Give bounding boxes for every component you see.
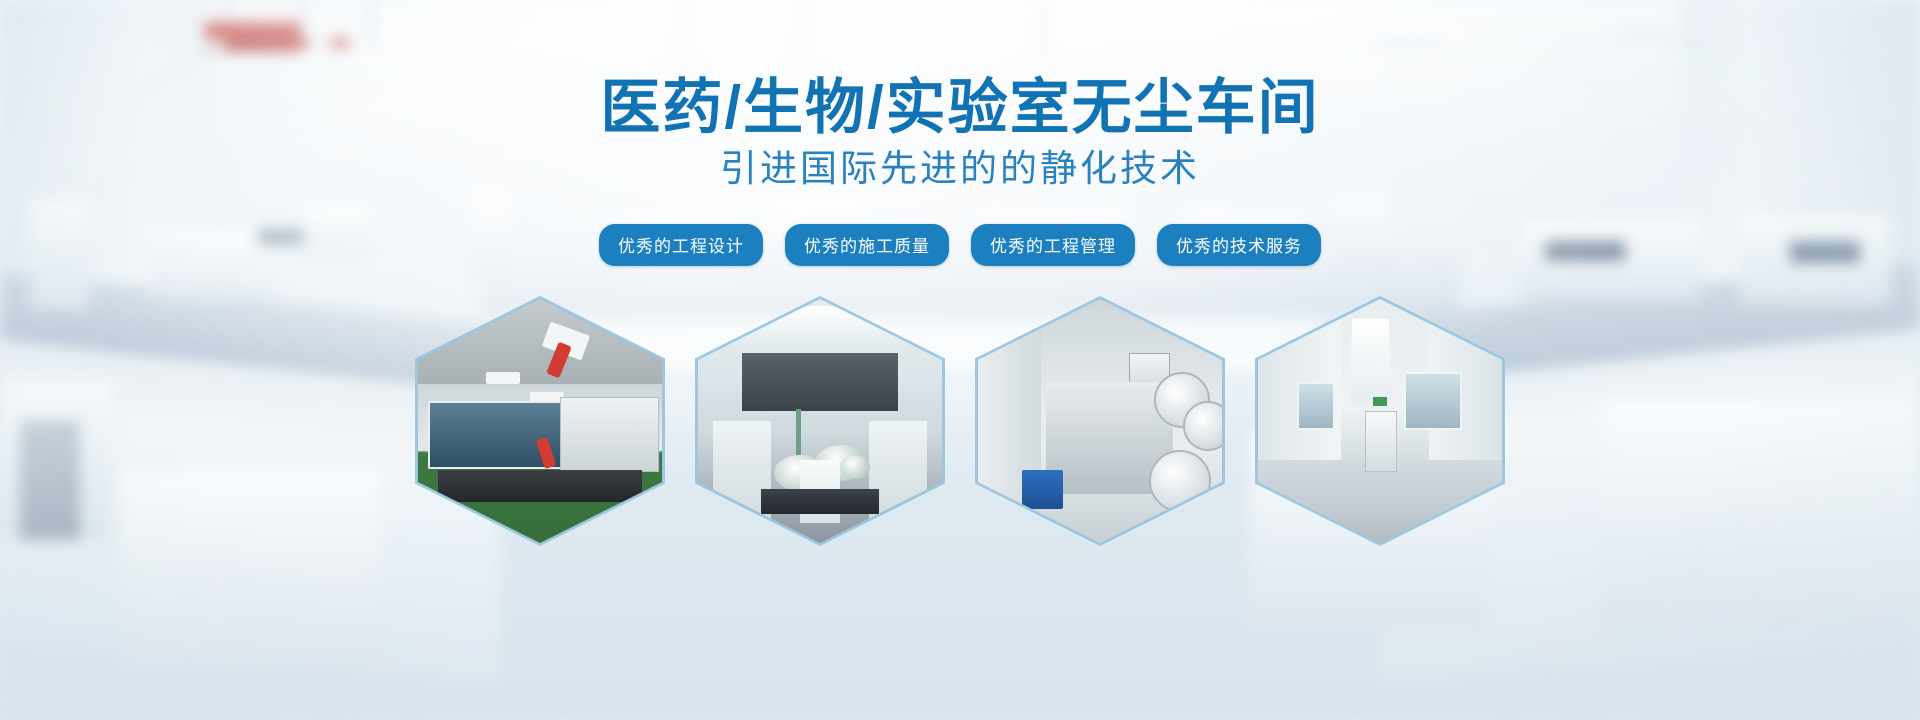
feature-tag-technical-service[interactable]: 优秀的技术服务 <box>1157 224 1321 266</box>
cleanroom-corridor-photo <box>1258 299 1502 543</box>
feature-tag-engineering-design[interactable]: 优秀的工程设计 <box>599 224 763 266</box>
hexagon-photo-laboratory-cleanroom[interactable] <box>415 296 665 546</box>
operating-room-photo <box>698 299 942 543</box>
banner-content: 医药/生物/实验室无尘车间 引进国际先进的的静化技术 优秀的工程设计 优秀的施工… <box>0 0 1920 720</box>
feature-tag-project-management[interactable]: 优秀的工程管理 <box>971 224 1135 266</box>
hero-banner: 医药/生物/实验室无尘车间 引进国际先进的的静化技术 优秀的工程设计 优秀的施工… <box>0 0 1920 720</box>
hexagon-photo-operating-room[interactable] <box>695 296 945 546</box>
feature-tag-construction-quality[interactable]: 优秀的施工质量 <box>785 224 949 266</box>
hexagon-gallery <box>0 296 1920 546</box>
page-title: 医药/生物/实验室无尘车间 <box>0 78 1920 138</box>
hexagon-photo-packaging-machinery[interactable] <box>975 296 1225 546</box>
hexagon-photo-cleanroom-corridor[interactable] <box>1255 296 1505 546</box>
page-subtitle: 引进国际先进的的静化技术 <box>0 150 1920 187</box>
packaging-machinery-photo <box>978 299 1222 543</box>
laboratory-cleanroom-photo <box>418 299 662 543</box>
feature-tag-list: 优秀的工程设计 优秀的施工质量 优秀的工程管理 优秀的技术服务 <box>0 224 1920 266</box>
